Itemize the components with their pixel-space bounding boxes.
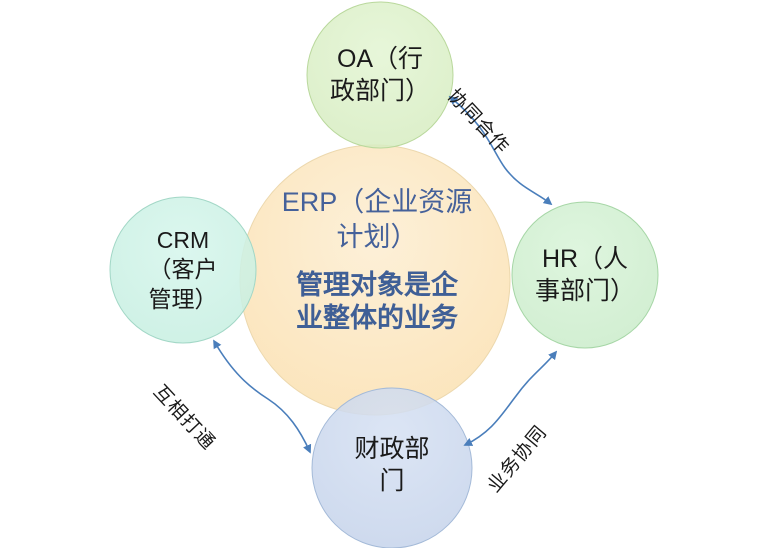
diagram-svg xyxy=(0,0,784,548)
finance-circle xyxy=(312,388,472,548)
erp-circle xyxy=(240,145,510,415)
diagram-canvas: OA（行 政部门） CRM （客户 管理） HR（人 事部门） 财政部 门 ER… xyxy=(0,0,784,548)
oa-circle xyxy=(307,2,453,148)
crm-circle xyxy=(110,197,256,343)
hr-circle xyxy=(512,202,658,348)
